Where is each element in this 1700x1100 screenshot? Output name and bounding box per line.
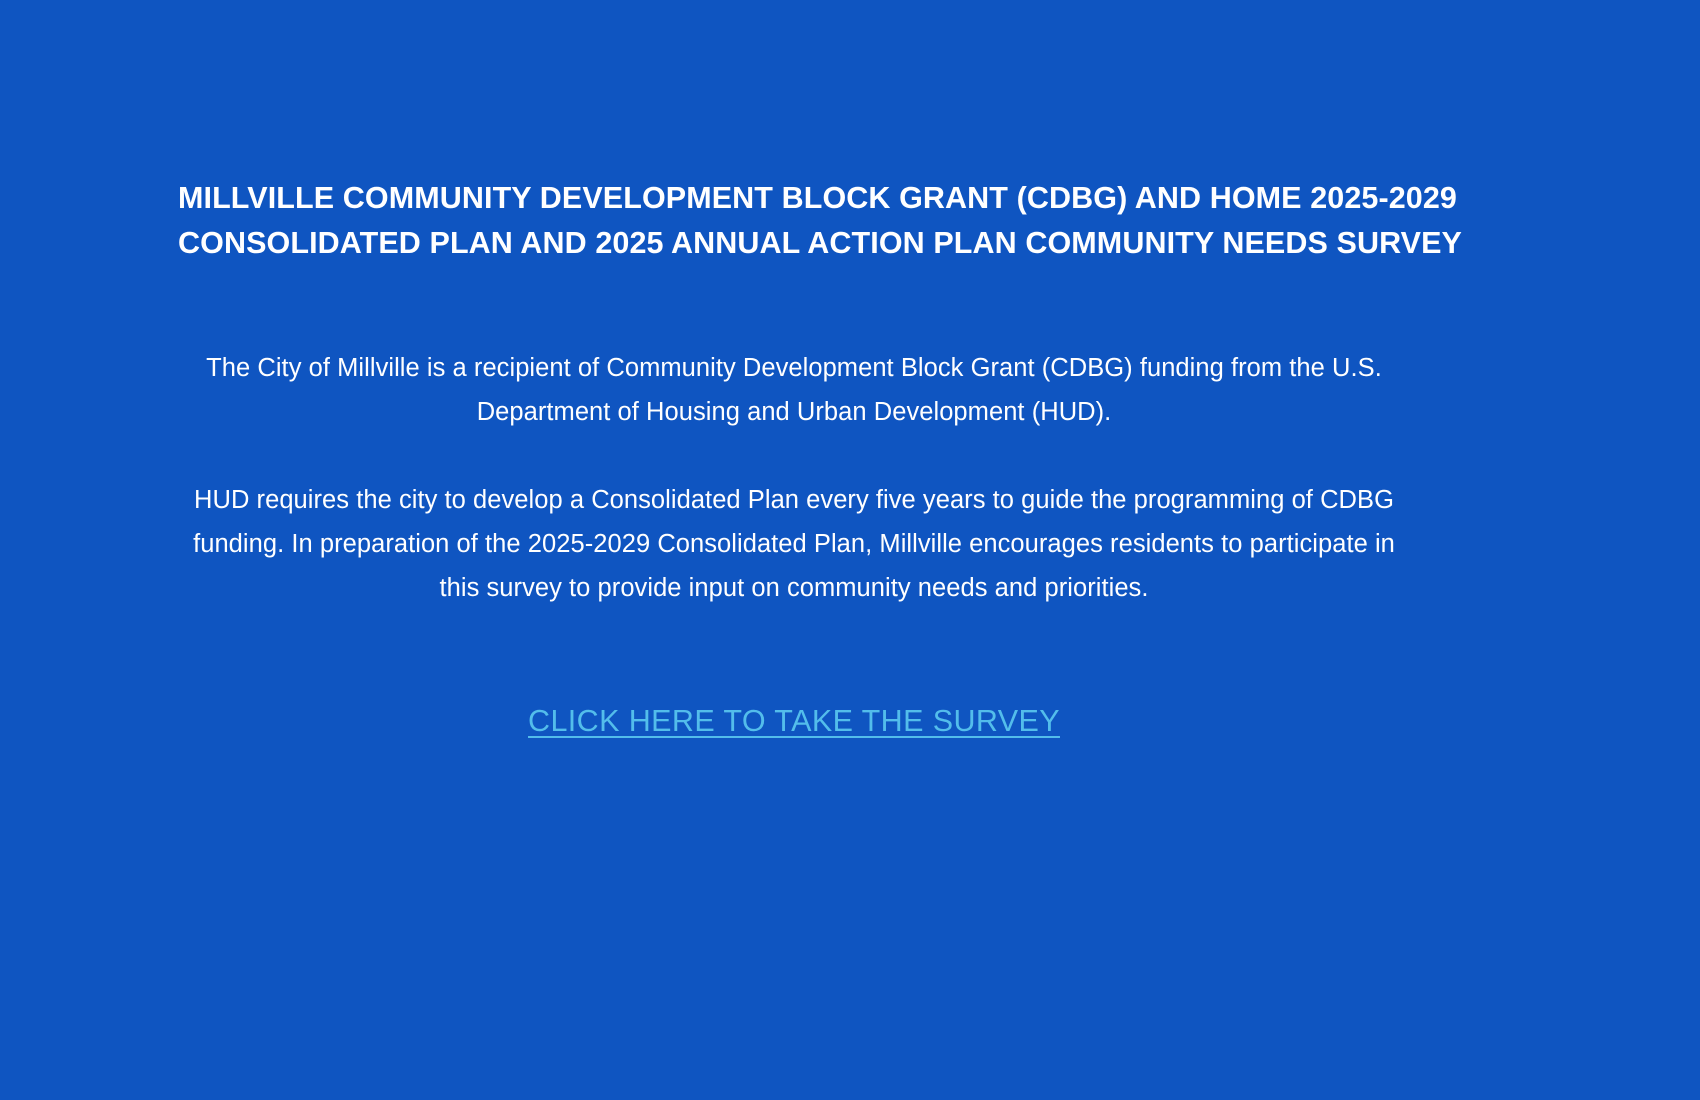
cta-container: CLICK HERE TO TAKE THE SURVEY: [178, 702, 1410, 740]
page-title: MILLVILLE COMMUNITY DEVELOPMENT BLOCK GR…: [178, 176, 1410, 266]
body-paragraph-1: The City of Millville is a recipient of …: [178, 346, 1410, 434]
take-survey-link[interactable]: CLICK HERE TO TAKE THE SURVEY: [528, 702, 1060, 740]
announcement-body: The City of Millville is a recipient of …: [178, 346, 1410, 610]
page-title-line-1: MILLVILLE COMMUNITY DEVELOPMENT BLOCK GR…: [178, 176, 1410, 221]
body-paragraph-2: HUD requires the city to develop a Conso…: [178, 478, 1410, 610]
page-title-line-2: CONSOLIDATED PLAN AND 2025 ANNUAL ACTION…: [178, 221, 1410, 266]
announcement-content: MILLVILLE COMMUNITY DEVELOPMENT BLOCK GR…: [178, 176, 1410, 740]
announcement-page: MILLVILLE COMMUNITY DEVELOPMENT BLOCK GR…: [0, 0, 1700, 1100]
